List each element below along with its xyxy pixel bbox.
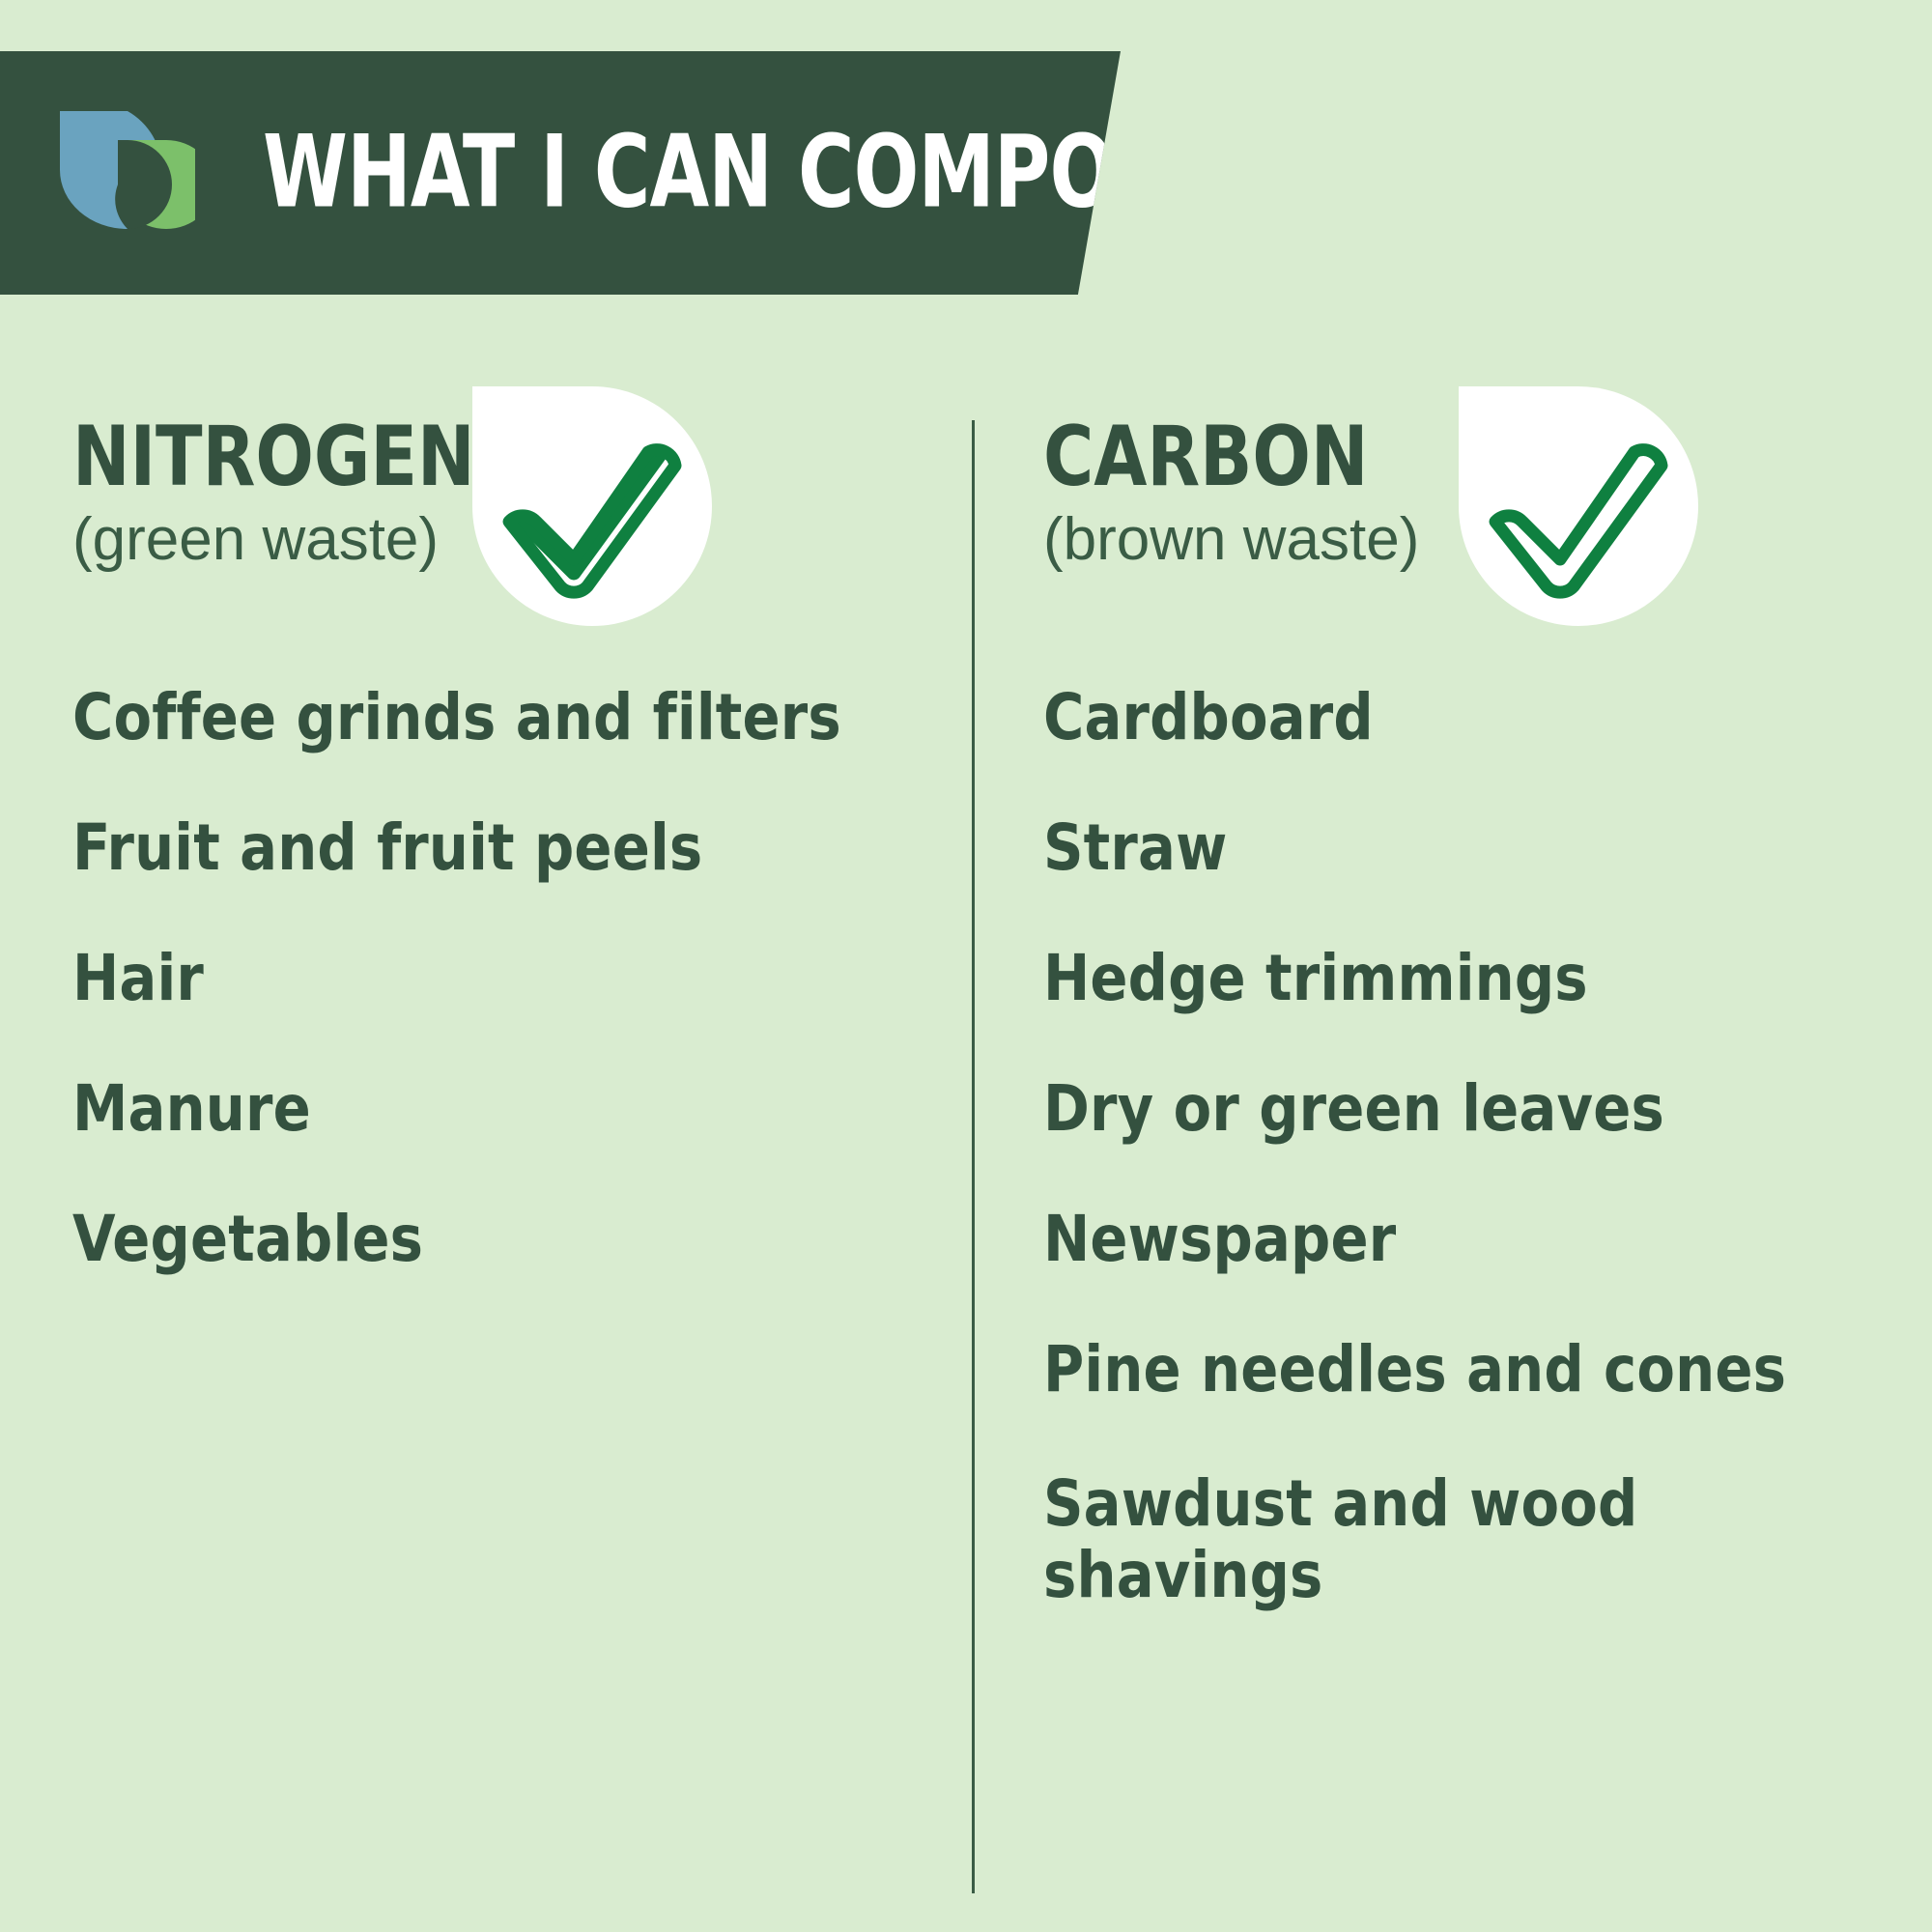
check-icon [1459,386,1698,626]
list-item: Fruit and fruit peels [72,816,916,880]
list-item: Coffee grinds and filters [72,686,916,750]
columns-container: NITROGEN (green waste) Coffee grinds and… [0,386,1932,1893]
list-item: Cardboard [1043,686,1821,750]
check-icon [472,386,712,626]
page-title: WHAT I CAN COMPOST: [263,124,1246,223]
column-nitrogen: NITROGEN (green waste) Coffee grinds and… [72,386,942,686]
column-carbon: CARBON (brown waste) Cardboard Straw Hed… [1043,386,1893,686]
list-item: Newspaper [1043,1207,1821,1271]
infographic-page: WHAT I CAN COMPOST: NITROGEN (green wast… [0,0,1932,1932]
check-badge-carbon [1459,386,1698,626]
check-badge-nitrogen [472,386,712,626]
overlapping-leaves-logo-icon [60,111,195,229]
column-subtitle-carbon: (brown waste) [1043,510,1419,570]
column-heading-carbon: CARBON [1043,415,1368,498]
list-item: Straw [1043,816,1821,880]
list-item: Dry or green leaves [1043,1077,1821,1141]
column-divider [972,420,975,1893]
list-item: Hair [72,947,916,1010]
item-list-nitrogen: Coffee grinds and filters Fruit and frui… [72,686,942,1338]
list-item: Hedge trimmings [1043,947,1821,1010]
header-banner: WHAT I CAN COMPOST: [0,51,1121,295]
list-item: Manure [72,1077,916,1141]
column-header-nitrogen: NITROGEN (green waste) [72,386,942,686]
list-item: Vegetables [72,1207,916,1271]
column-subtitle-nitrogen: (green waste) [72,510,439,570]
list-item: Sawdust and wood shavings [1043,1468,1821,1611]
column-header-carbon: CARBON (brown waste) [1043,386,1893,686]
list-item: Pine needles and cones [1043,1338,1821,1402]
column-heading-nitrogen: NITROGEN [72,415,475,498]
item-list-carbon: Cardboard Straw Hedge trimmings Dry or g… [1043,686,1893,1678]
